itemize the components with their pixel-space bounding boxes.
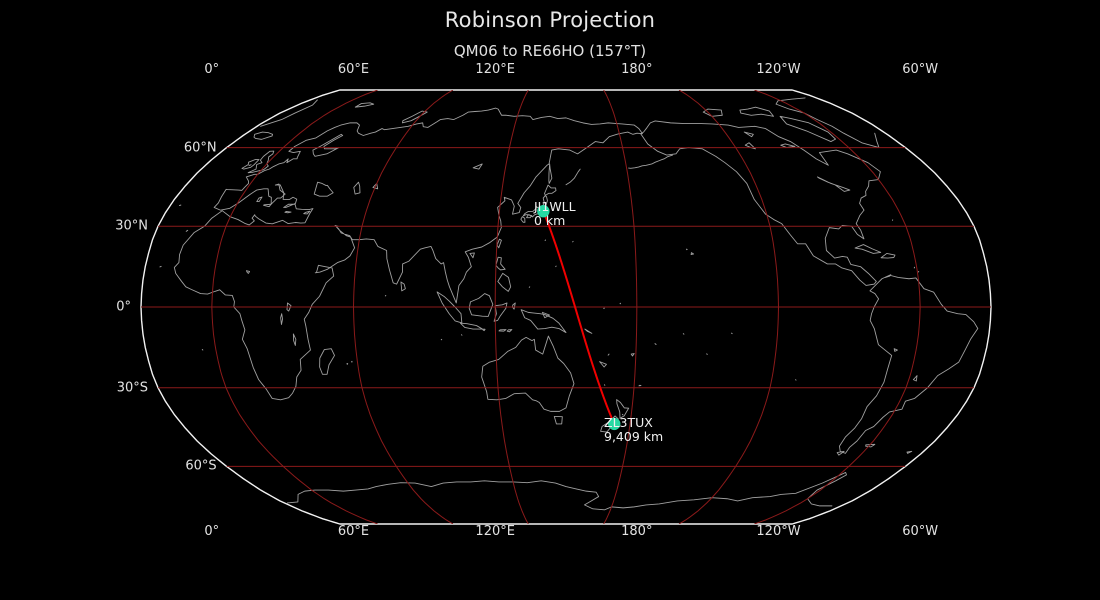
station-distance: 0 km: [534, 214, 576, 228]
longitude-label-120W: 120°W: [756, 524, 800, 539]
longitude-label-60E: 60°E: [338, 524, 369, 539]
longitude-label-120W: 120°W: [756, 62, 800, 77]
latitude-label-60S: 60°S: [185, 459, 216, 474]
latitude-label-0: 0°: [116, 300, 131, 315]
longitude-label-120E: 120°E: [475, 524, 515, 539]
latitude-label-30N: 30°N: [115, 219, 148, 234]
longitude-label-0: 0°: [204, 524, 219, 539]
latitude-label-30S: 30°S: [117, 380, 148, 395]
longitude-label-120E: 120°E: [475, 62, 515, 77]
map-visualization: Robinson Projection QM06 to RE66HO (157°…: [0, 0, 1100, 600]
station-callsign: ZL3TUX: [604, 416, 663, 430]
station-distance: 9,409 km: [604, 430, 663, 444]
station-callsign: JI1WLL: [534, 200, 576, 214]
longitude-label-60W: 60°W: [902, 62, 938, 77]
map-svg: [0, 0, 1100, 600]
latitude-label-60N: 60°N: [184, 140, 217, 155]
longitude-label-180: 180°: [621, 524, 652, 539]
longitude-label-0: 0°: [204, 62, 219, 77]
station-label-zl3tux: ZL3TUX9,409 km: [604, 416, 663, 444]
longitude-label-180: 180°: [621, 62, 652, 77]
robinson-map-canvas[interactable]: [0, 0, 1100, 600]
station-label-ji1wll: JI1WLL0 km: [534, 200, 576, 228]
longitude-label-60W: 60°W: [902, 524, 938, 539]
longitude-label-60E: 60°E: [338, 62, 369, 77]
